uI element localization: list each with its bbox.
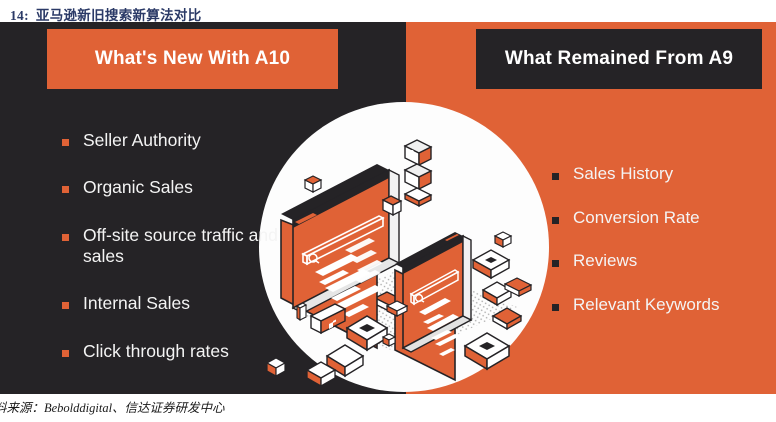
bullet-square-icon	[62, 350, 69, 357]
bullet-square-icon	[552, 304, 559, 311]
list-item: Sales History	[552, 164, 776, 185]
bullet-square-icon	[62, 139, 69, 146]
list-item: Click through rates	[62, 341, 312, 362]
slide-number: 14:	[10, 8, 29, 23]
right-panel-list: Sales History Conversion Rate Reviews Re…	[552, 164, 776, 339]
list-item: Conversion Rate	[552, 208, 776, 229]
list-item-label: Sales History	[573, 164, 673, 185]
list-item: Seller Authority	[62, 130, 312, 151]
list-item-label: Reviews	[573, 251, 637, 272]
list-item-label: Conversion Rate	[573, 208, 700, 229]
list-item: Internal Sales	[62, 293, 312, 314]
right-panel-banner: What Remained From A9	[476, 29, 762, 89]
list-item: Reviews	[552, 251, 776, 272]
slide-title-text: 亚马逊新旧搜索新算法对比	[36, 8, 202, 23]
bullet-square-icon	[552, 173, 559, 180]
list-item-label: Internal Sales	[83, 293, 190, 314]
bullet-square-icon	[62, 234, 69, 241]
bullet-square-icon	[552, 217, 559, 224]
page-title: 14:亚马逊新旧搜索新算法对比	[10, 4, 202, 24]
list-item-label: Relevant Keywords	[573, 295, 719, 316]
left-panel-banner-label: What's New With A10	[95, 48, 290, 70]
slide-page: 14:亚马逊新旧搜索新算法对比	[0, 0, 776, 422]
slide-body: What's New With A10 Seller Authority Org…	[0, 22, 776, 394]
source-note: 料来源：Bebolddigital、信达证券研发中心	[0, 397, 225, 416]
list-item-label: Click through rates	[83, 341, 229, 362]
left-panel-list: Seller Authority Organic Sales Off-site …	[62, 130, 312, 388]
right-panel-banner-label: What Remained From A9	[505, 48, 733, 70]
footer: 料来源：Bebolddigital、信达证券研发中心	[0, 396, 776, 422]
list-item: Relevant Keywords	[552, 295, 776, 316]
list-item-label: Seller Authority	[83, 130, 201, 151]
bullet-square-icon	[62, 186, 69, 193]
list-item-label: Off-site source traffic and sales	[83, 225, 312, 268]
list-item: Off-site source traffic and sales	[62, 225, 312, 268]
bullet-square-icon	[62, 302, 69, 309]
list-item-label: Organic Sales	[83, 177, 193, 198]
left-panel-banner: What's New With A10	[47, 29, 338, 89]
bullet-square-icon	[552, 260, 559, 267]
list-item: Organic Sales	[62, 177, 312, 198]
